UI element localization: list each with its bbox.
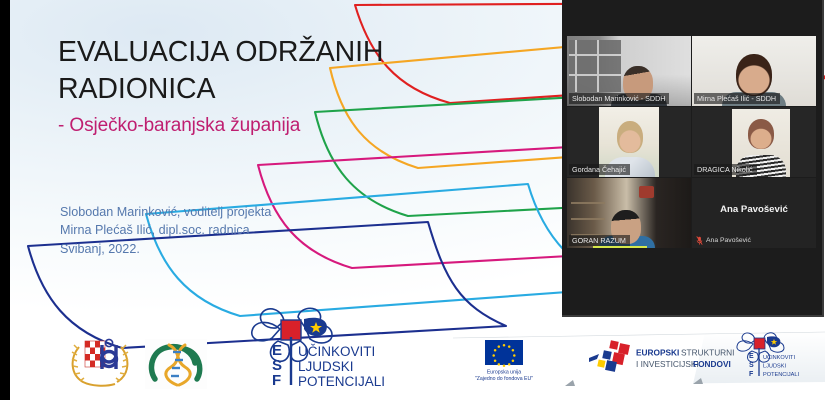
county-crest-logo	[65, 331, 135, 394]
participant-tile-no-video[interactable]: Ana Pavošević Ana Pavošević	[692, 178, 816, 248]
esf-wordmark-line1: UČINKOVITI	[298, 344, 375, 359]
speaking-indicator-bar	[593, 246, 647, 248]
participant-tile[interactable]: Slobodan Marinković - SDDH	[567, 36, 691, 106]
title-block: EVALUACIJA ODRŽANIH RADIONICA - Osječko-…	[58, 34, 388, 138]
participant-tile-active-speaker[interactable]: Gordana Čehajić	[567, 107, 691, 177]
participant-tile[interactable]: GORAN RAZUM	[567, 178, 691, 248]
esf-small-line1: UČINKOVITI	[763, 354, 795, 361]
esf-letter-f: F	[272, 372, 281, 389]
presentation-slide: EVALUACIJA ODRŽANIH RADIONICA - Osječko-…	[10, 0, 825, 400]
screenshot-root: EVALUACIJA ODRŽANIH RADIONICA - Osječko-…	[0, 0, 825, 400]
eu-flag-caption-line2: "Zajedno do fondova EU"	[475, 376, 533, 382]
esf-ucinkoviti-ljudski-potencijali-icon: E S F UČINKOVITI LJUDSKI POTENCIJALI	[238, 307, 416, 389]
participant-name-label: GORAN RAZUM	[569, 235, 630, 246]
participant-tile[interactable]: Mirna Plećaš Ilić - SDDH	[692, 36, 816, 106]
esif-line2-rest: I INVESTICIJSKI	[636, 359, 699, 369]
page-title: EVALUACIJA ODRŽANIH RADIONICA	[58, 34, 388, 108]
esf-wordmark-line3: POTENCIJALI	[298, 374, 385, 389]
presenter-info: Slobodan Marinković, voditelj projekta M…	[60, 203, 390, 258]
esf-small-letter-f: F	[749, 371, 754, 378]
esf-logo: E S F UČINKOVITI LJUDSKI POTENCIJALI	[238, 307, 416, 394]
presenter-line-1: Slobodan Marinković, voditelj projekta	[60, 203, 390, 221]
esf-small-line2: LJUDSKI	[763, 364, 786, 370]
participant-tile-grid: Slobodan Marinković - SDDH Mirna Plećaš …	[567, 36, 819, 248]
mic-muted-icon	[696, 236, 703, 245]
video-conference-panel[interactable]: Slobodan Marinković - SDDH Mirna Plećaš …	[562, 0, 824, 317]
esif-line1-rest: STRUKTURNI	[681, 348, 734, 358]
esf-small-line3: POTENCIJALI	[763, 372, 800, 378]
esf-small-letter-s: S	[749, 362, 754, 369]
participant-name-label: Slobodan Marinković - SDDH	[569, 93, 669, 104]
dna-logo	[145, 339, 207, 394]
participant-tile[interactable]: DRAGICA Nikolić	[692, 107, 816, 177]
participant-display-name: Ana Pavošević	[692, 204, 816, 215]
presenter-line-2: Mirna Plećaš Ilić, dipl.soc. radnica	[60, 221, 390, 239]
eu-flag-caption-line1: Europska unija	[487, 370, 521, 376]
partner-logos	[65, 331, 207, 394]
participant-badge: Ana Pavošević	[696, 236, 751, 245]
esf-wordmark-line2: LJUDSKI	[298, 359, 354, 374]
participant-name-label: DRAGICA Nikolić	[694, 164, 757, 175]
esif-line1-bold: EUROPSKI	[636, 348, 679, 358]
esf-small-letter-e: E	[749, 353, 754, 360]
eu-funding-banner: Europska unija "Zajedno do fondova EU" E…	[443, 330, 825, 388]
esif-line2-bold: FONDOVI	[693, 359, 731, 369]
page-subtitle: - Osječko-baranjska županija	[58, 114, 388, 138]
participant-badge-name: Ana Pavošević	[706, 237, 751, 244]
osjecko-baranjska-crest-icon	[65, 331, 135, 389]
letterbox-left	[0, 0, 10, 400]
dna-helix-icon	[145, 339, 207, 389]
participant-name-label: Mirna Plećaš Ilić - SDDH	[694, 93, 780, 104]
participant-name-label: Gordana Čehajić	[569, 164, 630, 175]
eu-flag-icon	[485, 340, 523, 367]
presenter-line-3: Svibanj, 2022.	[60, 240, 390, 258]
